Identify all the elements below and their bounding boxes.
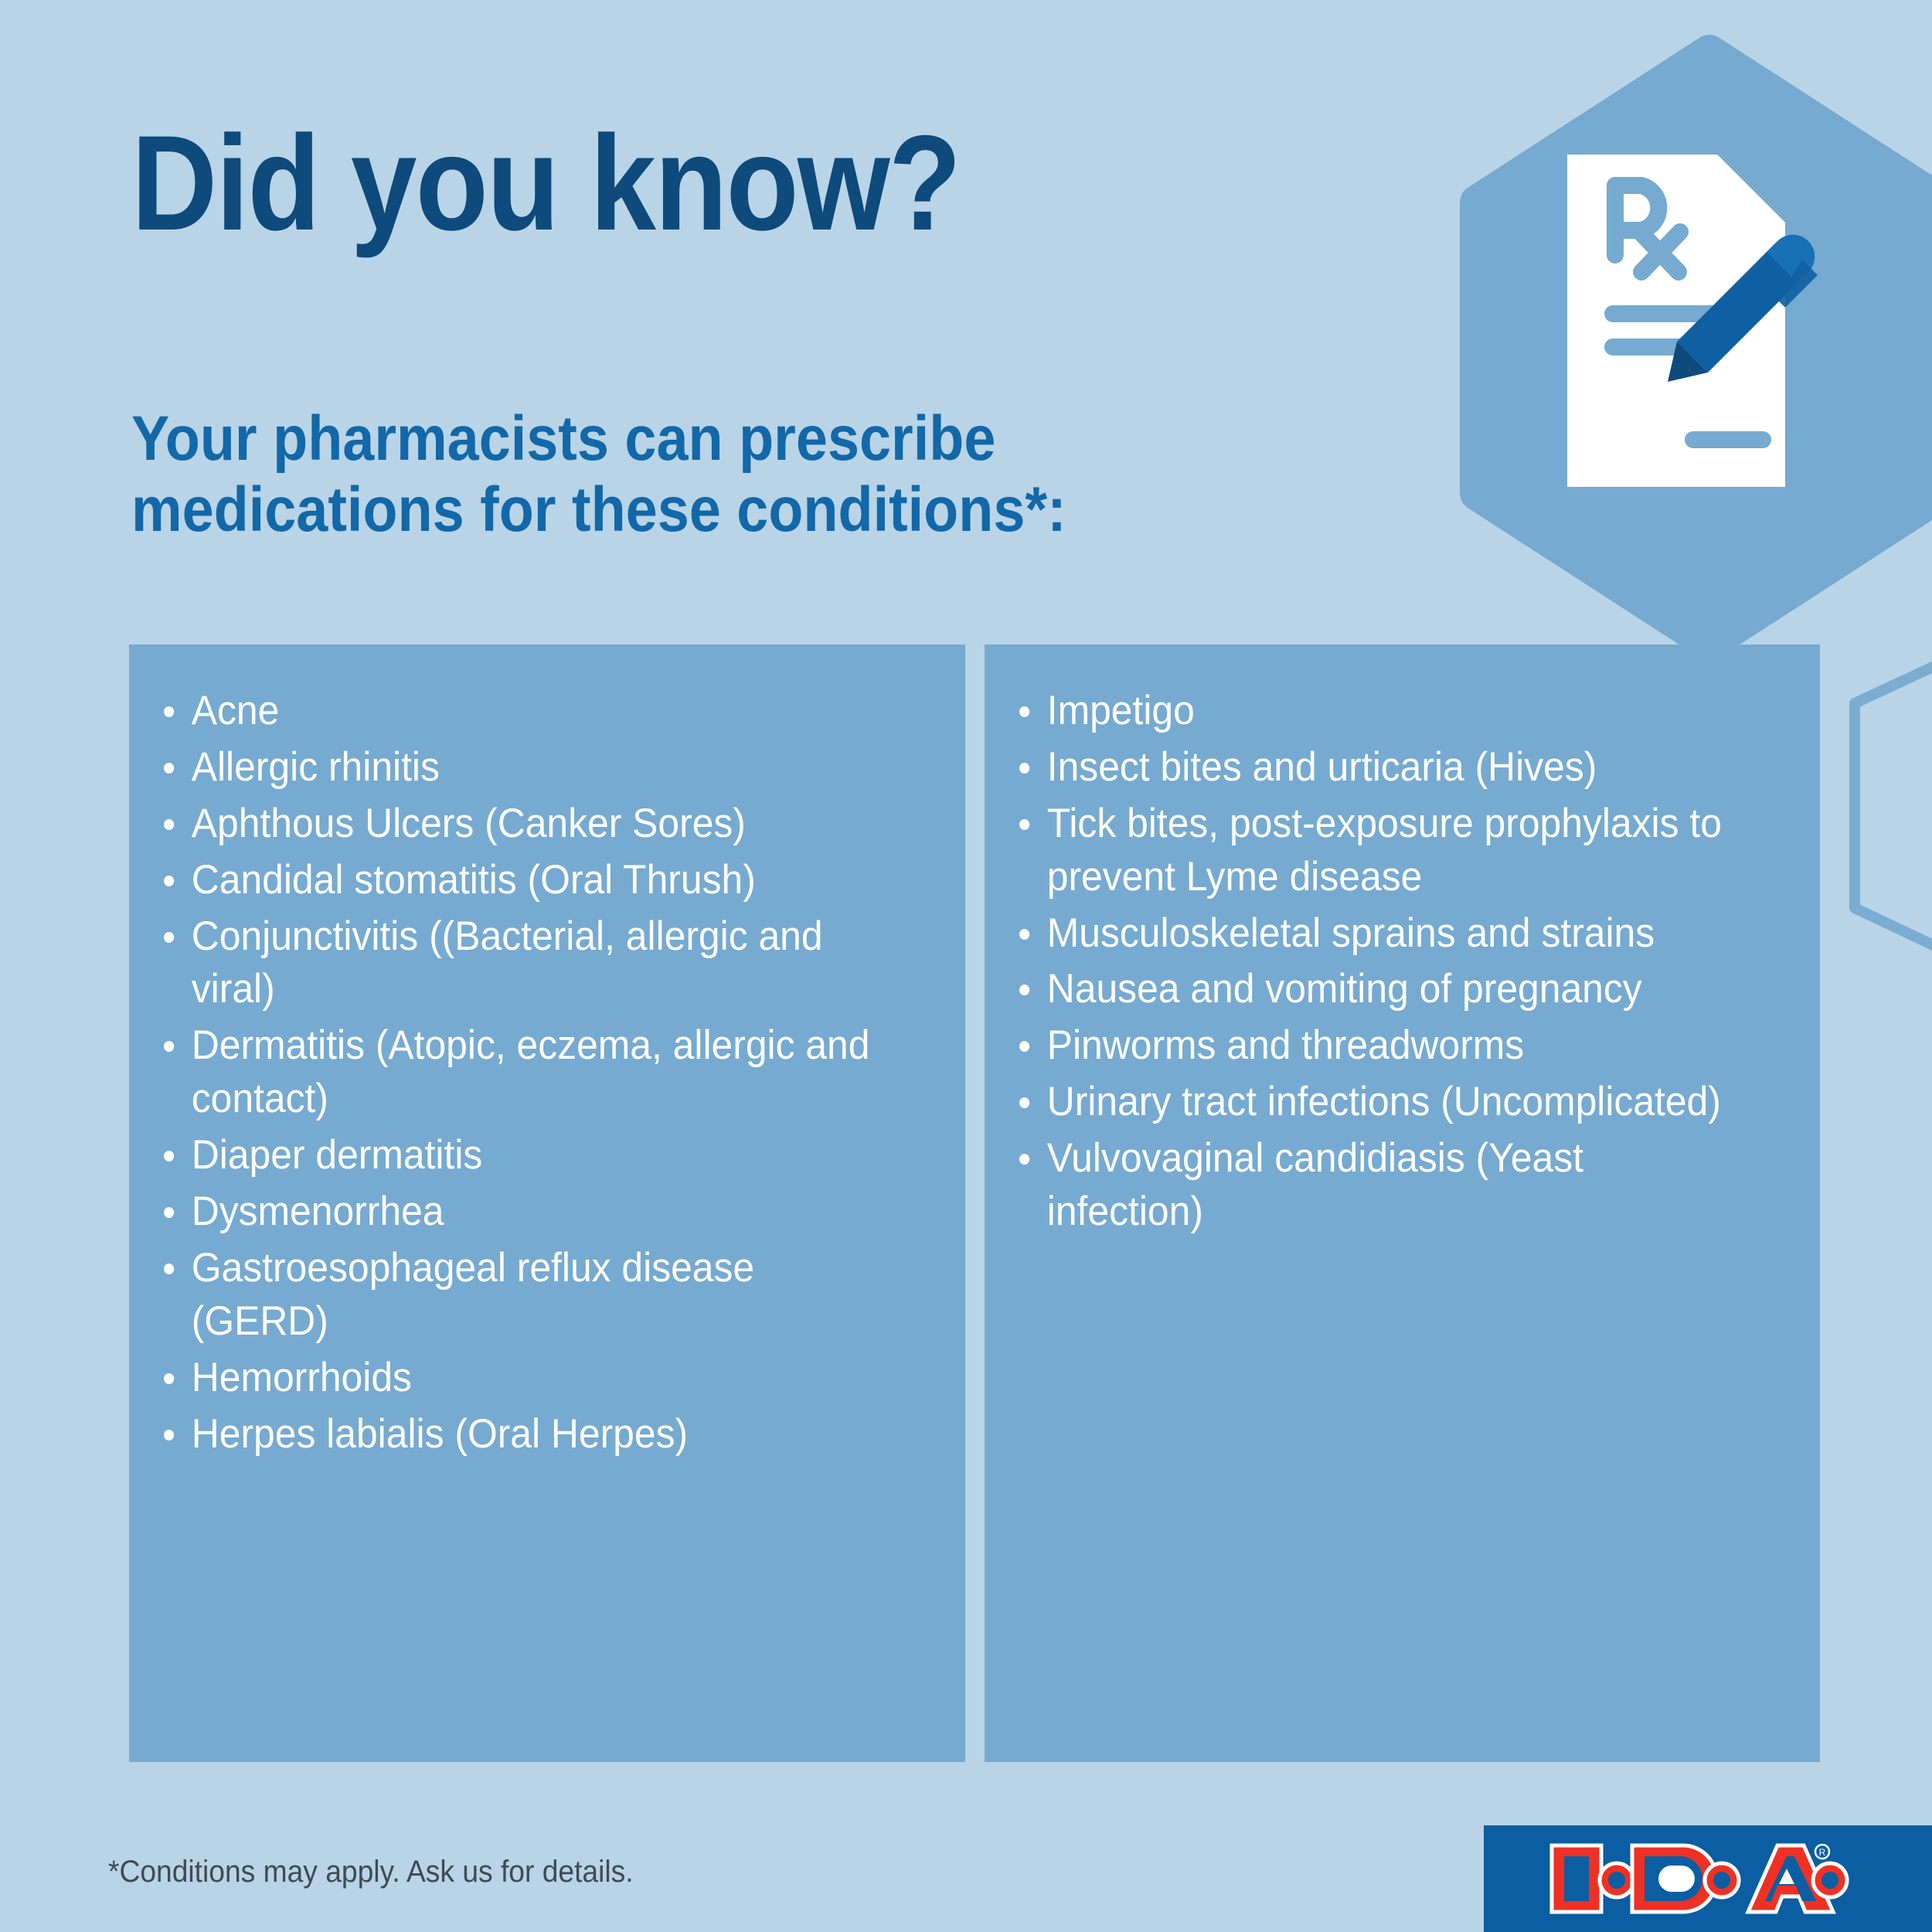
footnote-text: *Conditions may apply. Ask us for detail…	[108, 1855, 634, 1889]
list-item: Musculoskeletal sprains and strains	[1008, 907, 1750, 961]
conditions-list-right: Impetigo Insect bites and urticaria (Hiv…	[1008, 685, 1798, 1239]
list-item: Dysmenorrhea	[152, 1185, 894, 1239]
list-item: Diaper dermatitis	[152, 1129, 894, 1182]
list-item: Vulvovaginal candidiasis (Yeast infectio…	[1008, 1132, 1750, 1239]
list-item: Nausea and vomiting of pregnancy	[1008, 963, 1750, 1016]
svg-text:R: R	[1819, 1847, 1826, 1858]
list-item: Conjunctivitis ((Bacterial, allergic and…	[152, 910, 894, 1017]
list-item: Tick bites, post-exposure prophylaxis to…	[1008, 798, 1750, 904]
hexagon-outline-shape	[1855, 599, 1932, 1014]
list-item: Urinary tract infections (Uncomplicated)	[1008, 1076, 1750, 1129]
list-item: Impetigo	[1008, 685, 1750, 738]
list-item: Pinworms and threadworms	[1008, 1019, 1750, 1073]
page-subtitle: Your pharmacists can prescribe medicatio…	[131, 403, 1314, 546]
hexagon-filled-shape	[1478, 53, 1932, 643]
page-title: Did you know?	[131, 116, 1219, 251]
list-item: Insect bites and urticaria (Hives)	[1008, 741, 1750, 794]
list-item: Candidal stomatitis (Oral Thrush)	[152, 854, 894, 907]
list-item: Gastroesophageal reflux disease (GERD)	[152, 1242, 894, 1349]
subtitle-line-1: Your pharmacists can prescribe	[131, 403, 1314, 474]
registered-mark-icon: R	[1815, 1845, 1829, 1859]
list-item: Aphthous Ulcers (Canker Sores)	[152, 798, 894, 851]
infographic-canvas: Did you know? Your pharmacists can presc…	[0, 0, 1932, 1932]
conditions-panel-right: Impetigo Insect bites and urticaria (Hiv…	[985, 645, 1821, 1762]
list-item: Hemorrhoids	[152, 1352, 894, 1405]
conditions-list-left: Acne Allergic rhinitis Aphthous Ulcers (…	[152, 685, 942, 1461]
conditions-panel-left: Acne Allergic rhinitis Aphthous Ulcers (…	[129, 645, 965, 1762]
pencil-icon	[1668, 235, 1818, 382]
ida-logo-icon: R	[1546, 1836, 1870, 1921]
list-item: Herpes labialis (Oral Herpes)	[152, 1408, 894, 1461]
list-item: Acne	[152, 685, 894, 738]
list-item: Dermatitis (Atopic, eczema, allergic and…	[152, 1019, 894, 1126]
subtitle-line-2: medications for these conditions*:	[131, 474, 1314, 546]
ida-logo: R	[1484, 1825, 1932, 1932]
conditions-panels: Acne Allergic rhinitis Aphthous Ulcers (…	[129, 645, 1820, 1762]
list-item: Allergic rhinitis	[152, 741, 894, 794]
prescription-document-pencil-icon	[1567, 155, 1818, 487]
